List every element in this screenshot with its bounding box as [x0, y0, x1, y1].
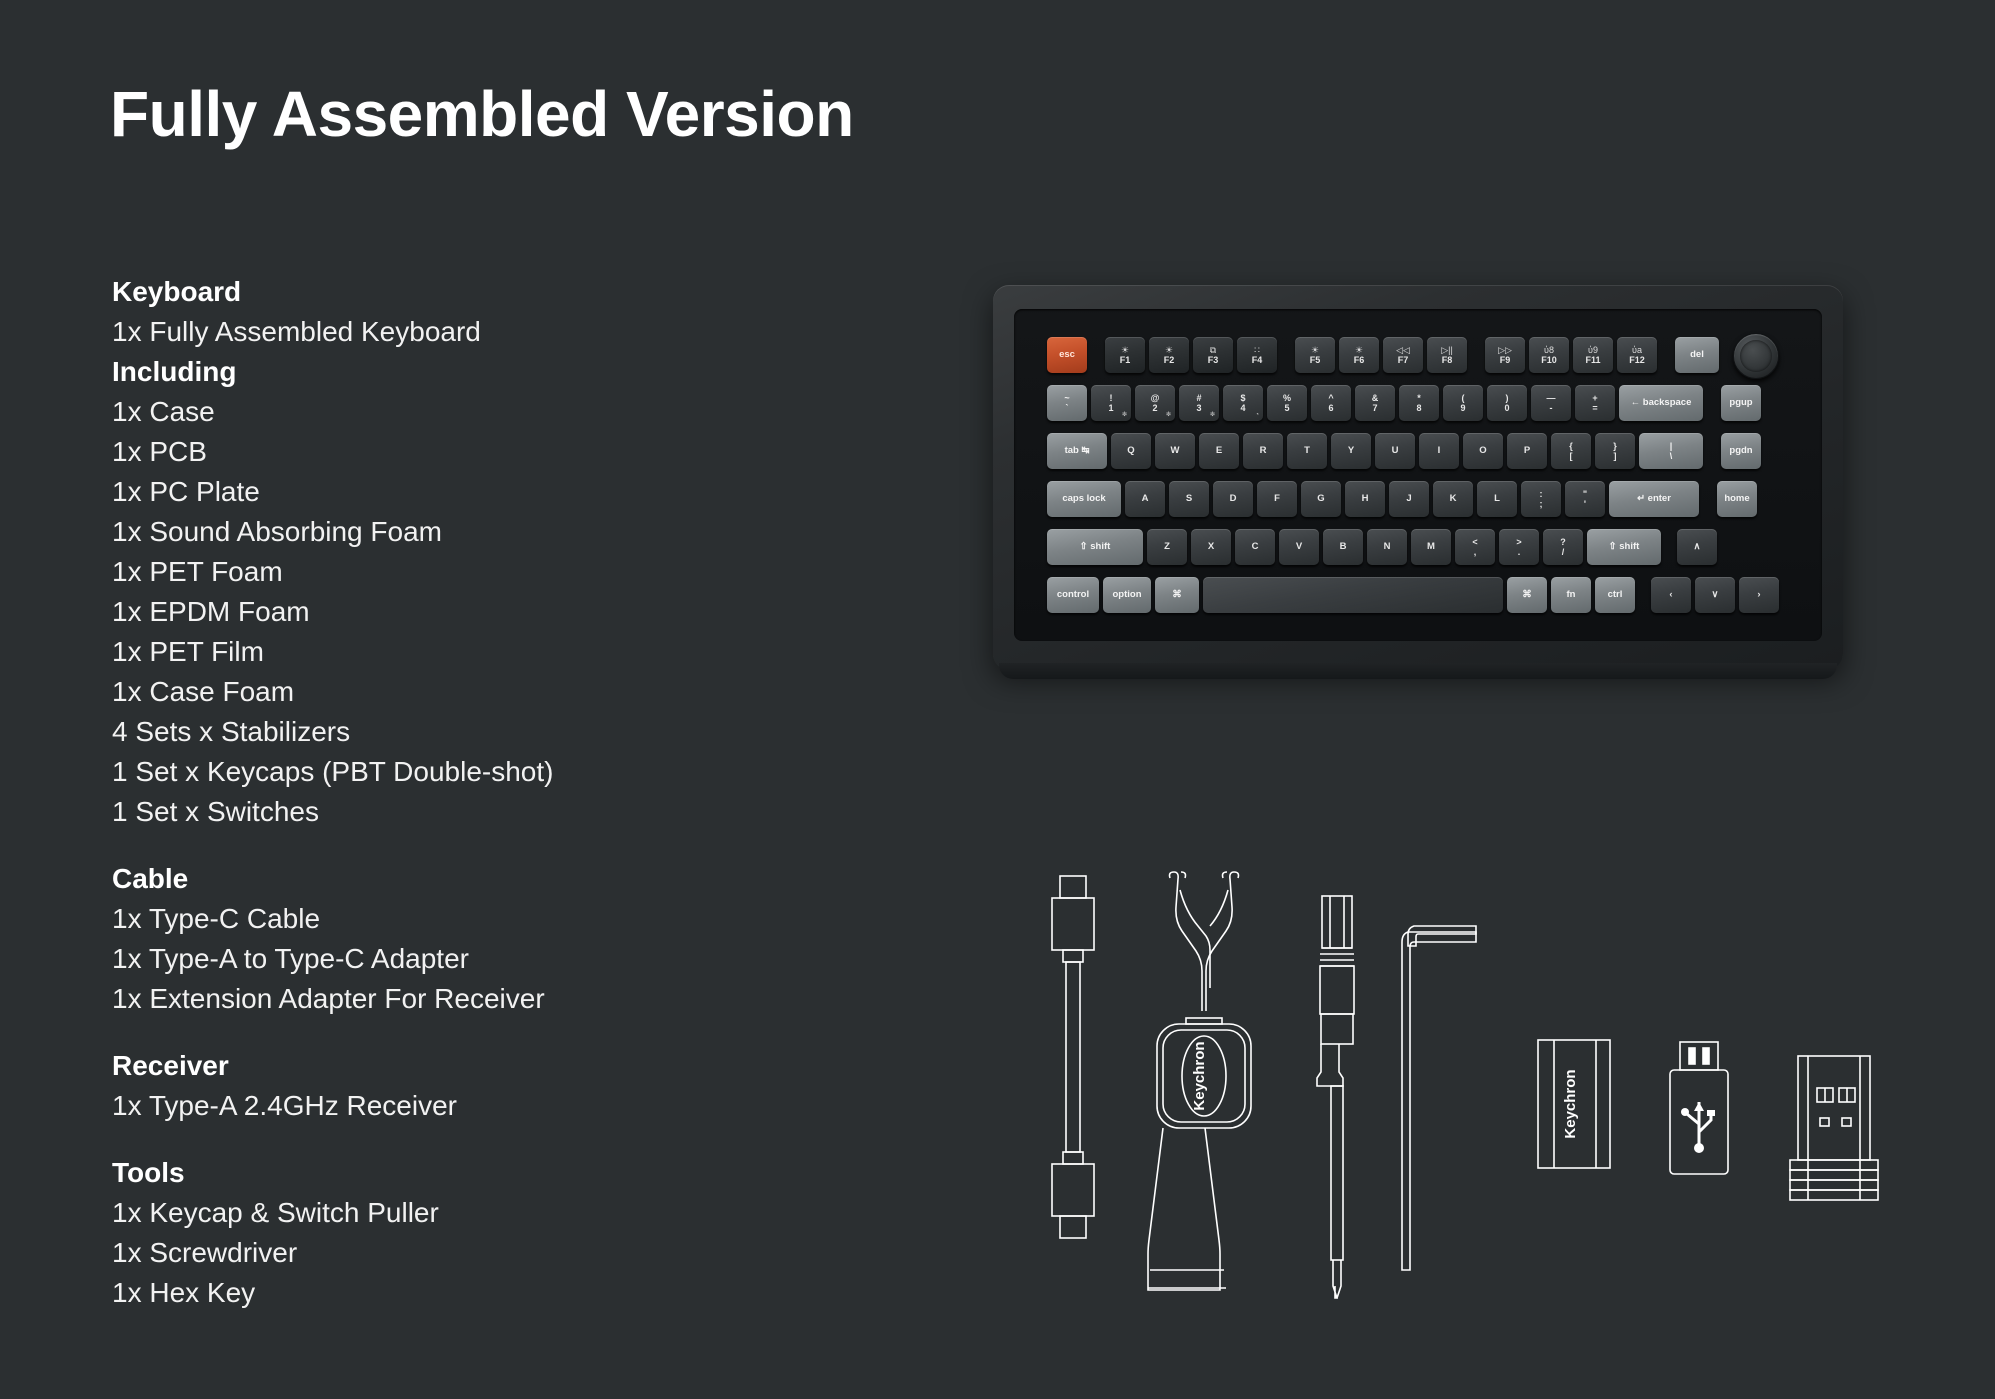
- key-glyph-icon: ὐ8: [1544, 345, 1554, 355]
- keyboard-row-bottom-row: controloption⌘⌘fnctrl‹∨›: [1047, 577, 1783, 613]
- key-label: F10: [1541, 355, 1557, 365]
- key-a[interactable]: A: [1125, 481, 1165, 517]
- key-2[interactable]: @2❇: [1135, 385, 1175, 421]
- key-label: ⇧ shift: [1080, 542, 1111, 552]
- key--backspace[interactable]: ← backspace: [1619, 385, 1703, 421]
- spec-group-heading: Cable: [112, 859, 812, 899]
- key-legend-bottom: =: [1592, 403, 1597, 413]
- key-label: Y: [1348, 446, 1354, 456]
- key--[interactable]: ~`: [1047, 385, 1087, 421]
- key-label: B: [1340, 542, 1347, 552]
- page-title: Fully Assembled Version: [110, 82, 854, 146]
- key--[interactable]: —-: [1531, 385, 1571, 421]
- key-label: fn: [1567, 590, 1576, 600]
- key-glyph-icon: ☀: [1355, 345, 1363, 355]
- key-legend-top: >: [1516, 537, 1521, 547]
- key-6[interactable]: ^6: [1311, 385, 1351, 421]
- spec-item: 1x PET Foam: [112, 552, 812, 592]
- key-label: J: [1406, 494, 1411, 504]
- keyboard-row-tab-row: tab ↹QWERTYUIOP{[}]|\pgdn: [1047, 433, 1765, 469]
- key-esc[interactable]: esc: [1047, 337, 1087, 373]
- key-label: T: [1304, 446, 1310, 456]
- spec-item: 1x PCB: [112, 432, 812, 472]
- key-4[interactable]: $4◔: [1223, 385, 1263, 421]
- key-label: F12: [1629, 355, 1645, 365]
- spec-item: 1x Case: [112, 392, 812, 432]
- key--[interactable]: "': [1565, 481, 1605, 517]
- key-u[interactable]: U: [1375, 433, 1415, 469]
- key-del[interactable]: del: [1675, 337, 1719, 373]
- extension-adapter-icon: Keychron: [1538, 1040, 1610, 1168]
- key-indicator-icon: ❇: [1166, 412, 1171, 418]
- key-glyph-icon: ☀: [1121, 345, 1129, 355]
- key-label: F11: [1585, 355, 1600, 365]
- key-glyph-icon: ☀: [1311, 345, 1319, 355]
- volume-knob[interactable]: [1733, 333, 1779, 379]
- key-label: ← backspace: [1631, 398, 1692, 408]
- key-label: ⌘: [1522, 590, 1532, 600]
- key-o[interactable]: O: [1463, 433, 1503, 469]
- key-glyph-icon: ⧉: [1210, 345, 1216, 355]
- key-label: option: [1112, 590, 1141, 600]
- spec-group-heading: Tools: [112, 1153, 812, 1193]
- key-pgup[interactable]: pgup: [1721, 385, 1761, 421]
- key-legend-top: !: [1110, 393, 1113, 403]
- spec-item: 1x Keycap & Switch Puller: [112, 1193, 812, 1233]
- key-label: V: [1296, 542, 1302, 552]
- key-label: ⇧ shift: [1609, 542, 1640, 552]
- key-f10[interactable]: ὐ8F10: [1529, 337, 1569, 373]
- key-label: K: [1450, 494, 1457, 504]
- spec-item: 1x Hex Key: [112, 1273, 812, 1313]
- key-glyph-icon: ὐa: [1632, 345, 1642, 355]
- key-f5[interactable]: ☀F5: [1295, 337, 1335, 373]
- key-c[interactable]: C: [1235, 529, 1275, 565]
- key-label: pgdn: [1729, 446, 1752, 456]
- key-label: ∨: [1712, 590, 1719, 600]
- key-f9[interactable]: ▷▷F9: [1485, 337, 1525, 373]
- key-0[interactable]: )0: [1487, 385, 1527, 421]
- key--enter[interactable]: ↵ enter: [1609, 481, 1699, 517]
- key-legend-bottom: .: [1518, 547, 1521, 557]
- key-w[interactable]: W: [1155, 433, 1195, 469]
- key-f2[interactable]: ☀F2: [1149, 337, 1189, 373]
- key-z[interactable]: Z: [1147, 529, 1187, 565]
- key-label: R: [1260, 446, 1267, 456]
- key-legend-bottom: 0: [1504, 403, 1509, 413]
- spec-group-including: Including1x Case1x PCB1x PC Plate1x Soun…: [112, 352, 812, 832]
- key-x[interactable]: X: [1191, 529, 1231, 565]
- key-label: M: [1427, 542, 1435, 552]
- key--[interactable]: }]: [1595, 433, 1635, 469]
- key-fn[interactable]: fn: [1551, 577, 1591, 613]
- key-label: caps lock: [1062, 494, 1105, 504]
- key-legend-bottom: 7: [1372, 403, 1377, 413]
- key-v[interactable]: V: [1279, 529, 1319, 565]
- key-f[interactable]: F: [1257, 481, 1297, 517]
- keyboard-plate: esc☀F1☀F2⧉F3∷F4☀F5☀F6◁◁F7▷||F8▷▷F9ὐ8F10ὐ…: [1014, 309, 1822, 641]
- key-label: N: [1384, 542, 1391, 552]
- spec-item: 1x Type-C Cable: [112, 899, 812, 939]
- key-legend-bottom: /: [1562, 547, 1565, 557]
- key-legend-bottom: 8: [1416, 403, 1421, 413]
- key-legend-bottom: ': [1584, 499, 1586, 509]
- key-legend-top: $: [1240, 393, 1245, 403]
- key-label: F7: [1398, 355, 1409, 365]
- key-label: F3: [1208, 355, 1219, 365]
- key-legend-bottom: ,: [1474, 547, 1477, 557]
- key-legend-top: +: [1592, 393, 1597, 403]
- spec-group-heading: Receiver: [112, 1046, 812, 1086]
- type-a-to-type-c-adapter-icon: [1670, 1042, 1728, 1174]
- key-i[interactable]: I: [1419, 433, 1459, 469]
- key-legend-bottom: 5: [1284, 403, 1289, 413]
- key-label: F1: [1120, 355, 1131, 365]
- key-legend-top: ?: [1560, 537, 1566, 547]
- key-label: X: [1208, 542, 1214, 552]
- key--[interactable]: ?/: [1543, 529, 1583, 565]
- key--[interactable]: ‹: [1651, 577, 1691, 613]
- key-legend-top: {: [1569, 441, 1573, 451]
- spec-group-gap: [112, 1126, 812, 1153]
- key-8[interactable]: *8: [1399, 385, 1439, 421]
- key-label: W: [1171, 446, 1180, 456]
- key-legend-bottom: ;: [1540, 499, 1543, 509]
- key-9[interactable]: (9: [1443, 385, 1483, 421]
- key-f7[interactable]: ◁◁F7: [1383, 337, 1423, 373]
- key-ctrl[interactable]: ctrl: [1595, 577, 1635, 613]
- key-f12[interactable]: ὐaF12: [1617, 337, 1657, 373]
- keyboard-case: esc☀F1☀F2⧉F3∷F4☀F5☀F6◁◁F7▷||F8▷▷F9ὐ8F10ὐ…: [993, 285, 1843, 670]
- key-label: F6: [1354, 355, 1365, 365]
- keyboard-row-shift-row: ⇧ shiftZXCVBNM<,>.?/⇧ shift∧: [1047, 529, 1721, 565]
- usb-symbol-icon: [1681, 1102, 1715, 1153]
- key-label: del: [1690, 350, 1704, 360]
- key-legend-top: |: [1670, 441, 1673, 451]
- spec-item: 1x Type-A 2.4GHz Receiver: [112, 1086, 812, 1126]
- spec-item: 1x Type-A to Type-C Adapter: [112, 939, 812, 979]
- key-s[interactable]: S: [1169, 481, 1209, 517]
- key-3[interactable]: #3❇: [1179, 385, 1219, 421]
- hex-key-icon: [1402, 926, 1476, 1270]
- spec-item: 1x Fully Assembled Keyboard: [112, 312, 812, 352]
- key-label: D: [1230, 494, 1237, 504]
- key-f4[interactable]: ∷F4: [1237, 337, 1277, 373]
- key-legend-bottom: 6: [1328, 403, 1333, 413]
- key-legend-top: ): [1506, 393, 1509, 403]
- key-label: ‹: [1669, 590, 1672, 600]
- key-f3[interactable]: ⧉F3: [1193, 337, 1233, 373]
- key-label: F8: [1442, 355, 1453, 365]
- key-g[interactable]: G: [1301, 481, 1341, 517]
- key-pgdn[interactable]: pgdn: [1721, 433, 1761, 469]
- key-indicator-icon: ◔: [1255, 412, 1259, 418]
- key-option[interactable]: option: [1103, 577, 1151, 613]
- key-legend-top: <: [1472, 537, 1477, 547]
- key-5[interactable]: %5: [1267, 385, 1307, 421]
- key-label: A: [1142, 494, 1149, 504]
- key--[interactable]: +=: [1575, 385, 1615, 421]
- key-legend-top: :: [1540, 489, 1543, 499]
- spec-group-heading: Including: [112, 352, 812, 392]
- key-legend-top: (: [1462, 393, 1465, 403]
- keyboard-row-function-row: esc☀F1☀F2⧉F3∷F4☀F5☀F6◁◁F7▷||F8▷▷F9ὐ8F10ὐ…: [1047, 337, 1779, 379]
- key-e[interactable]: E: [1199, 433, 1239, 469]
- key-label: esc: [1059, 350, 1075, 360]
- key-label: E: [1216, 446, 1222, 456]
- spec-group-tools: Tools1x Keycap & Switch Puller1x Screwdr…: [112, 1153, 812, 1313]
- key-label: ›: [1757, 590, 1760, 600]
- spec-group-keyboard: Keyboard1x Fully Assembled Keyboard: [112, 272, 812, 352]
- key-label: Q: [1127, 446, 1134, 456]
- key-legend-top: }: [1613, 441, 1617, 451]
- key-caps-lock[interactable]: caps lock: [1047, 481, 1121, 517]
- key-tab-[interactable]: tab ↹: [1047, 433, 1107, 469]
- key-f1[interactable]: ☀F1: [1105, 337, 1145, 373]
- key-legend-top: ~: [1064, 393, 1069, 403]
- keyboard-row-caps-row: caps lockASDFGHJKL:;"'↵ enterhome: [1047, 481, 1761, 517]
- key-legend-top: ^: [1328, 393, 1333, 403]
- spec-item: 1x Sound Absorbing Foam: [112, 512, 812, 552]
- key-b[interactable]: B: [1323, 529, 1363, 565]
- key-legend-top: *: [1417, 393, 1421, 403]
- key-label: control: [1057, 590, 1089, 600]
- key-label: ↵ enter: [1637, 494, 1671, 504]
- key--[interactable]: :;: [1521, 481, 1561, 517]
- key-label: ctrl: [1608, 590, 1623, 600]
- spec-item: 1x PET Film: [112, 632, 812, 672]
- key-m[interactable]: M: [1411, 529, 1451, 565]
- key-label: tab ↹: [1065, 446, 1090, 456]
- key-legend-top: —: [1547, 393, 1556, 403]
- key--shift[interactable]: ⇧ shift: [1587, 529, 1661, 565]
- key-legend-top: &: [1372, 393, 1379, 403]
- keyboard-product-image: esc☀F1☀F2⧉F3∷F4☀F5☀F6◁◁F7▷||F8▷▷F9ὐ8F10ὐ…: [993, 285, 1843, 670]
- key-label: S: [1186, 494, 1192, 504]
- key-label: Z: [1164, 542, 1170, 552]
- usb-receiver-icon: [1790, 1056, 1878, 1200]
- key-glyph-icon: ▷▷: [1498, 345, 1512, 355]
- spec-group-cable: Cable1x Type-C Cable1x Type-A to Type-C …: [112, 859, 812, 1019]
- key-glyph-icon: ὐ9: [1588, 345, 1598, 355]
- accessories-illustration: Keychron Keychron: [1030, 870, 1930, 1350]
- key-y[interactable]: Y: [1331, 433, 1371, 469]
- key-legend-bottom: 2: [1152, 403, 1157, 413]
- key-legend-top: @: [1151, 393, 1160, 403]
- type-c-cable-icon: [1052, 876, 1094, 1238]
- key-f11[interactable]: ὐ9F11: [1573, 337, 1613, 373]
- key--[interactable]: {[: [1551, 433, 1591, 469]
- key--[interactable]: ⌘: [1507, 577, 1547, 613]
- puller-brand-text: Keychron: [1191, 1041, 1208, 1110]
- spec-list: Keyboard1x Fully Assembled KeyboardInclu…: [112, 272, 812, 1313]
- key-legend-bottom: -: [1550, 403, 1553, 413]
- key-label: O: [1479, 446, 1486, 456]
- key-blank[interactable]: [1203, 577, 1503, 613]
- key-legend-bottom: \: [1670, 451, 1673, 461]
- key--[interactable]: ∨: [1695, 577, 1735, 613]
- key-home[interactable]: home: [1717, 481, 1757, 517]
- key-d[interactable]: D: [1213, 481, 1253, 517]
- key-glyph-icon: ☀: [1165, 345, 1173, 355]
- keycap-switch-puller-icon: Keychron: [1148, 872, 1251, 1290]
- key-legend-top: ": [1583, 489, 1587, 499]
- spec-item: 1x Case Foam: [112, 672, 812, 712]
- adapter-brand-text: Keychron: [1562, 1069, 1579, 1138]
- spec-group-receiver: Receiver1x Type-A 2.4GHz Receiver: [112, 1046, 812, 1126]
- key-label: F: [1274, 494, 1280, 504]
- key-label: F4: [1252, 355, 1263, 365]
- key-label: C: [1252, 542, 1259, 552]
- key-legend-bottom: `: [1066, 403, 1069, 413]
- key--[interactable]: |\: [1639, 433, 1703, 469]
- key-label: F9: [1500, 355, 1511, 365]
- spec-group-gap: [112, 1019, 812, 1046]
- keyboard-row-number-row: ~`!1❇@2❇#3❇$4◔%5^6&7*8(9)0—-+=← backspac…: [1047, 385, 1765, 421]
- spec-item: 1x Extension Adapter For Receiver: [112, 979, 812, 1019]
- key-legend-top: #: [1196, 393, 1201, 403]
- key-q[interactable]: Q: [1111, 433, 1151, 469]
- key-legend-bottom: 9: [1460, 403, 1465, 413]
- key-label: H: [1362, 494, 1369, 504]
- key-legend-bottom: 4: [1240, 403, 1245, 413]
- key--[interactable]: >.: [1499, 529, 1539, 565]
- key-label: ⌘: [1172, 590, 1182, 600]
- spec-group-gap: [112, 832, 812, 859]
- key-control[interactable]: control: [1047, 577, 1099, 613]
- key-label: P: [1524, 446, 1530, 456]
- key-f8[interactable]: ▷||F8: [1427, 337, 1467, 373]
- key-glyph-icon: ◁◁: [1396, 345, 1410, 355]
- key-j[interactable]: J: [1389, 481, 1429, 517]
- spec-item: 1 Set x Keycaps (PBT Double-shot): [112, 752, 812, 792]
- key-k[interactable]: K: [1433, 481, 1473, 517]
- key-legend-bottom: 1: [1108, 403, 1113, 413]
- key-label: I: [1438, 446, 1441, 456]
- key-label: ∧: [1694, 542, 1701, 552]
- key-label: F2: [1164, 355, 1175, 365]
- key-p[interactable]: P: [1507, 433, 1547, 469]
- key-label: U: [1392, 446, 1399, 456]
- key-r[interactable]: R: [1243, 433, 1283, 469]
- key-legend-bottom: ]: [1614, 451, 1617, 461]
- key-n[interactable]: N: [1367, 529, 1407, 565]
- key-label: G: [1317, 494, 1324, 504]
- key-legend-top: %: [1283, 393, 1291, 403]
- key--[interactable]: ⌘: [1155, 577, 1199, 613]
- key-indicator-icon: ❇: [1210, 412, 1215, 418]
- key--[interactable]: ∧: [1677, 529, 1717, 565]
- spec-item: 4 Sets x Stabilizers: [112, 712, 812, 752]
- key--shift[interactable]: ⇧ shift: [1047, 529, 1143, 565]
- key-glyph-icon: ▷||: [1441, 345, 1453, 355]
- spec-item: 1 Set x Switches: [112, 792, 812, 832]
- screwdriver-icon: [1317, 896, 1354, 1298]
- key-legend-bottom: 3: [1196, 403, 1201, 413]
- key-f6[interactable]: ☀F6: [1339, 337, 1379, 373]
- key-glyph-icon: ∷: [1254, 345, 1260, 355]
- spec-item: 1x PC Plate: [112, 472, 812, 512]
- key-legend-bottom: [: [1570, 451, 1573, 461]
- spec-item: 1x EPDM Foam: [112, 592, 812, 632]
- key-l[interactable]: L: [1477, 481, 1517, 517]
- key-h[interactable]: H: [1345, 481, 1385, 517]
- spec-item: 1x Screwdriver: [112, 1233, 812, 1273]
- key--[interactable]: <,: [1455, 529, 1495, 565]
- key-label: home: [1724, 494, 1749, 504]
- key-7[interactable]: &7: [1355, 385, 1395, 421]
- key-label: L: [1494, 494, 1500, 504]
- key--[interactable]: ›: [1739, 577, 1779, 613]
- key-1[interactable]: !1❇: [1091, 385, 1131, 421]
- key-indicator-icon: ❇: [1122, 412, 1127, 418]
- key-t[interactable]: T: [1287, 433, 1327, 469]
- spec-group-heading: Keyboard: [112, 272, 812, 312]
- key-label: F5: [1310, 355, 1321, 365]
- key-label: pgup: [1729, 398, 1752, 408]
